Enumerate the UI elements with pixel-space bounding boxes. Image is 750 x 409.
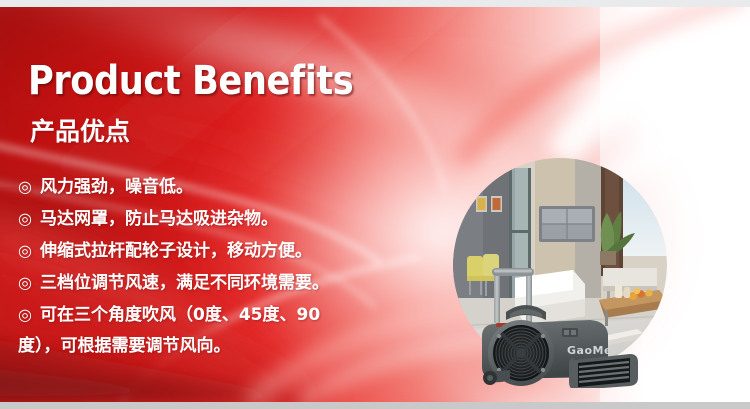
product-photo-circle	[453, 158, 667, 372]
bullet-marker-icon: ◎	[18, 203, 40, 234]
benefit-item-5-continuation: 度），可根据需要调节风向。	[18, 331, 470, 362]
benefit-text: 三档位调节风速，满足不同环境需要。	[40, 273, 329, 293]
benefit-item-3: ◎伸缩式拉杆配轮子设计，移动方便。	[18, 235, 470, 267]
benefit-text: 可在三个角度吹风（0度、45度、90	[40, 305, 320, 325]
bullet-marker-icon: ◎	[18, 299, 40, 330]
product-photo-svg	[453, 158, 667, 372]
product-benefits-banner: GaoMei	[0, 0, 750, 409]
benefit-item-1: ◎风力强劲，噪音低。	[18, 171, 470, 203]
room-scene	[453, 158, 667, 372]
benefit-text: 伸缩式拉杆配轮子设计，移动方便。	[40, 241, 312, 261]
copy-block: Product Benefits 产品优点 ◎风力强劲，噪音低。 ◎马达网罩，防…	[0, 7, 470, 402]
top-edge-strip	[0, 0, 750, 7]
page-title-en: Product Benefits	[28, 61, 353, 101]
bullet-marker-icon: ◎	[18, 235, 40, 266]
benefit-text: 度），可根据需要调节风向。	[18, 336, 231, 356]
bullet-marker-icon: ◎	[18, 267, 40, 298]
bottom-edge-strip	[0, 402, 750, 409]
benefit-item-5: ◎可在三个角度吹风（0度、45度、90	[18, 299, 470, 331]
page-title-cn: 产品优点	[30, 119, 130, 144]
benefit-item-4: ◎三档位调节风速，满足不同环境需要。	[18, 267, 470, 299]
benefits-list: ◎风力强劲，噪音低。 ◎马达网罩，防止马达吸进杂物。 ◎伸缩式拉杆配轮子设计，移…	[18, 171, 470, 362]
benefit-item-2: ◎马达网罩，防止马达吸进杂物。	[18, 203, 470, 235]
bullet-marker-icon: ◎	[18, 171, 40, 202]
benefit-text: 马达网罩，防止马达吸进杂物。	[40, 209, 278, 229]
benefit-text: 风力强劲，噪音低。	[40, 177, 193, 197]
